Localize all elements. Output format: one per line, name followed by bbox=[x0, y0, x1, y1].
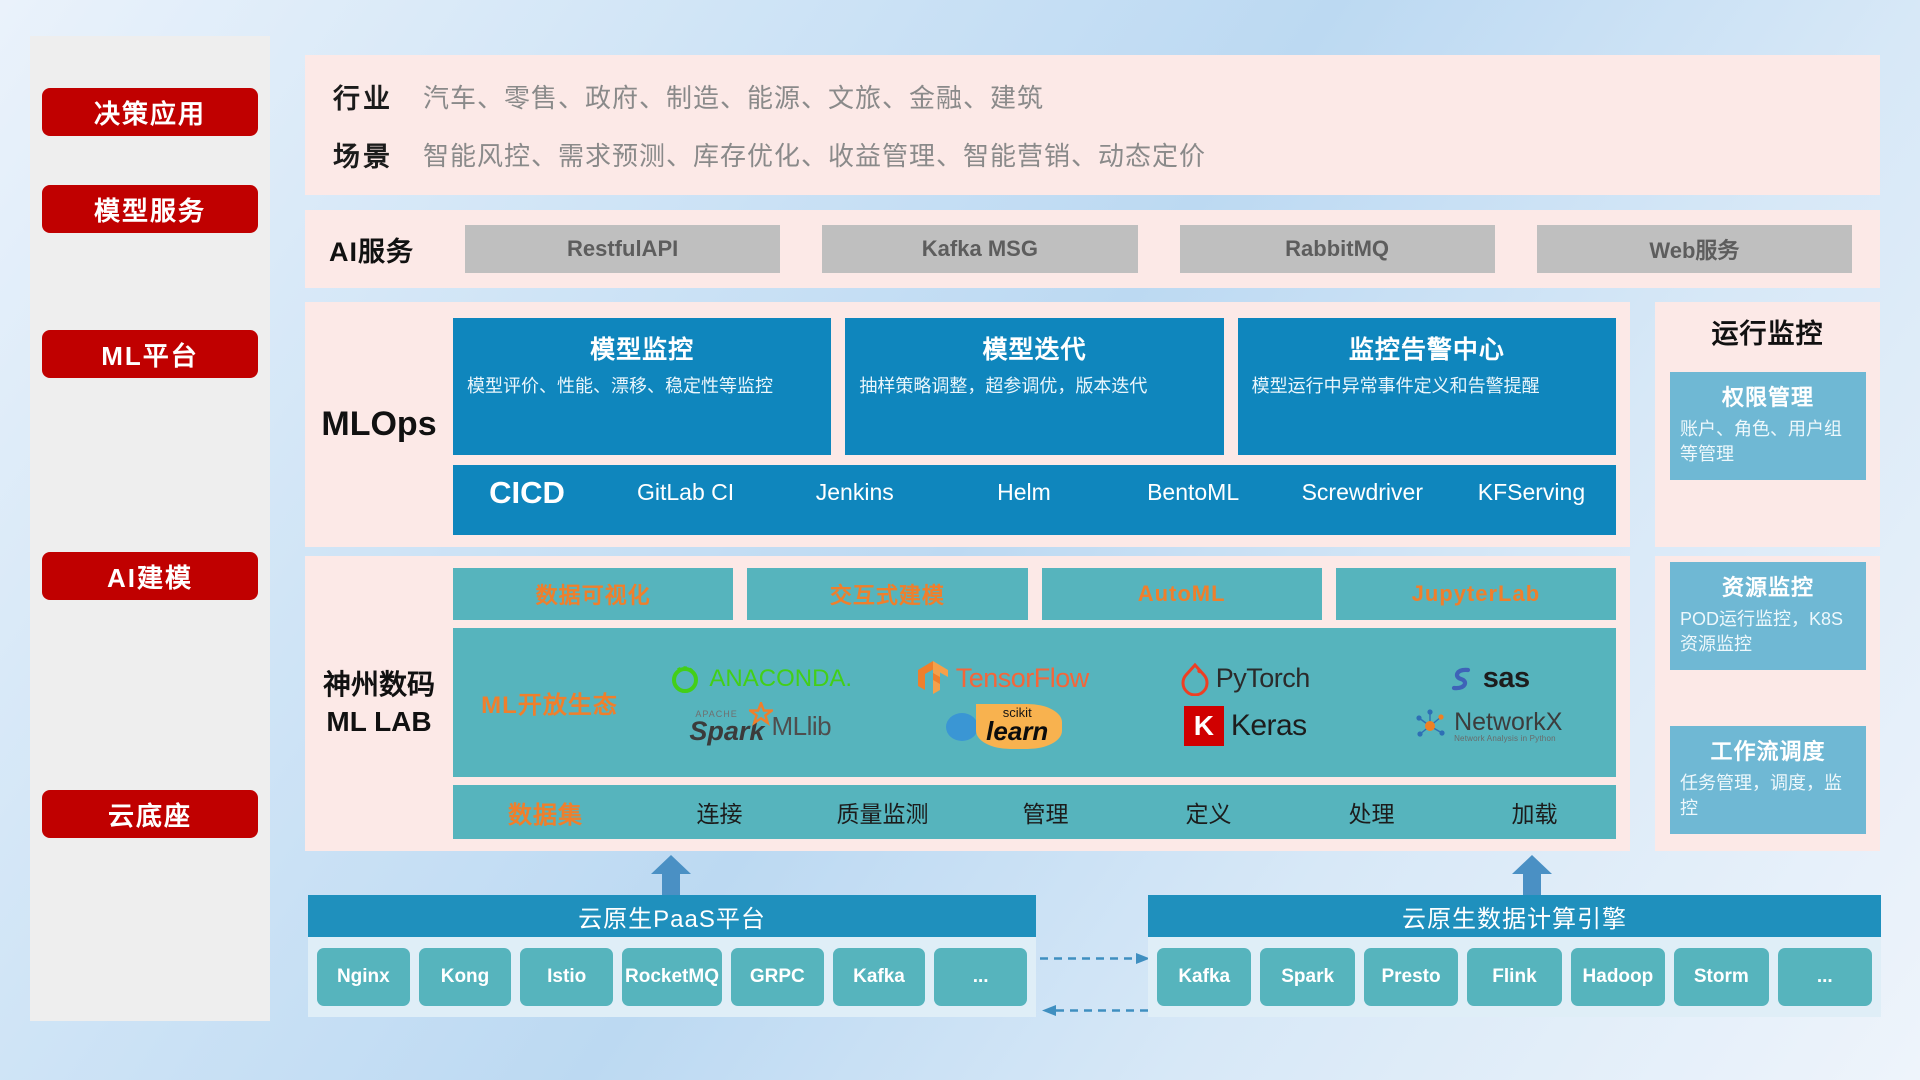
cloud-chip-storm[interactable]: Storm bbox=[1674, 948, 1768, 1006]
dataset-label: 数据集 bbox=[453, 795, 638, 830]
cloud-chip-nginx[interactable]: Nginx bbox=[317, 948, 410, 1006]
rail-chip-model-service[interactable]: 模型服务 bbox=[42, 185, 258, 233]
ml-lab-body: 数据可视化 交互式建模 AutoML JupyterLab ML开放生态 ANA… bbox=[453, 556, 1630, 851]
card-title: 模型监控 bbox=[590, 330, 694, 366]
ml-ecosystem: ML开放生态 ANACONDA. bbox=[453, 628, 1616, 777]
spark-star-icon bbox=[749, 702, 773, 726]
up-arrow-compute-icon bbox=[1509, 853, 1555, 899]
cicd-item-screwdriver[interactable]: Screwdriver bbox=[1278, 475, 1447, 508]
cloud-paas-title: 云原生PaaS平台 bbox=[308, 895, 1036, 937]
cicd-item-kfserving[interactable]: KFServing bbox=[1447, 475, 1616, 508]
cloud-chip-hadoop[interactable]: Hadoop bbox=[1571, 948, 1665, 1006]
cloud-chip-more[interactable]: ... bbox=[934, 948, 1027, 1006]
tool-jupyterlab[interactable]: JupyterLab bbox=[1336, 568, 1616, 620]
anaconda-wordmark: ANACONDA. bbox=[709, 665, 852, 693]
dashed-arrow-left-icon bbox=[1040, 1004, 1152, 1017]
cicd-item-bentoml[interactable]: BentoML bbox=[1109, 475, 1278, 508]
ml-lab-label-line1: 神州数码 bbox=[323, 667, 435, 704]
cicd-item-jenkins[interactable]: Jenkins bbox=[770, 475, 939, 508]
service-box-kafka-msg[interactable]: Kafka MSG bbox=[822, 225, 1137, 273]
mlops-cards: 模型监控 模型评价、性能、漂移、稳定性等监控 模型迭代 抽样策略调整，超参调优，… bbox=[453, 318, 1616, 455]
mlops-card-model-iteration[interactable]: 模型迭代 抽样策略调整，超参调优，版本迭代 bbox=[845, 318, 1223, 455]
cloud-chip-more[interactable]: ... bbox=[1778, 948, 1872, 1006]
cloud-compute-group: 云原生数据计算引擎 Kafka Spark Presto Flink Hadoo… bbox=[1148, 895, 1881, 1030]
cloud-chip-kong[interactable]: Kong bbox=[419, 948, 512, 1006]
dataset-item-quality[interactable]: 质量监测 bbox=[801, 795, 964, 829]
scenario-row: 场景 智能风控、需求预测、库存优化、收益管理、智能营销、动态定价 bbox=[305, 135, 1880, 174]
architecture-diagram: 决策应用 模型服务 ML平台 AI建模 云底座 行业 汽车、零售、政府、制造、能… bbox=[0, 0, 1920, 1080]
cicd-title: CICD bbox=[453, 475, 601, 511]
cicd-item-helm[interactable]: Helm bbox=[939, 475, 1108, 508]
industry-row: 行业 汽车、零售、政府、制造、能源、文旅、金融、建筑 bbox=[305, 77, 1880, 116]
networkx-logo: NetworkX Network Analysis in Python bbox=[1413, 709, 1562, 743]
ai-service-label: AI服务 bbox=[305, 230, 465, 269]
sas-logo: sas bbox=[1446, 662, 1530, 695]
ml-ecosystem-label: ML开放生态 bbox=[457, 685, 642, 720]
card-title: 权限管理 bbox=[1680, 380, 1856, 412]
cloud-paas-group: 云原生PaaS平台 Nginx Kong Istio RocketMQ GRPC… bbox=[308, 895, 1036, 1030]
learn-word: learn bbox=[986, 719, 1048, 744]
keras-logo: K Keras bbox=[1184, 706, 1307, 746]
rail-chip-ml-platform[interactable]: ML平台 bbox=[42, 330, 258, 378]
spark-mllib-logo: APACHE Spark MLlib bbox=[689, 709, 831, 745]
service-box-rabbitmq[interactable]: RabbitMQ bbox=[1180, 225, 1495, 273]
dataset-item-processing[interactable]: 处理 bbox=[1290, 795, 1453, 829]
cloud-chip-rocketmq[interactable]: RocketMQ bbox=[622, 948, 722, 1006]
monitor-card-permission[interactable]: 权限管理 账户、角色、用户组等管理 bbox=[1670, 372, 1866, 480]
card-title: 模型迭代 bbox=[982, 330, 1086, 366]
tensorflow-mark bbox=[917, 660, 949, 698]
anaconda-mark bbox=[668, 662, 702, 696]
cloud-chip-flink[interactable]: Flink bbox=[1467, 948, 1561, 1006]
card-desc: 账户、角色、用户组等管理 bbox=[1680, 417, 1856, 467]
card-desc: 任务管理，调度，监控 bbox=[1680, 771, 1856, 821]
card-title: 工作流调度 bbox=[1680, 734, 1856, 766]
monitoring-title: 运行监控 bbox=[1655, 312, 1880, 351]
anaconda-logo: ANACONDA. bbox=[668, 662, 852, 696]
monitor-card-workflow[interactable]: 工作流调度 任务管理，调度，监控 bbox=[1670, 726, 1866, 834]
service-box-web[interactable]: Web服务 bbox=[1537, 225, 1852, 273]
ml-lab-band: 神州数码 ML LAB 数据可视化 交互式建模 AutoML JupyterLa… bbox=[305, 556, 1630, 851]
cloud-chip-grpc[interactable]: GRPC bbox=[731, 948, 824, 1006]
rail-chip-decision-app[interactable]: 决策应用 bbox=[42, 88, 258, 136]
mlops-band: MLOps 模型监控 模型评价、性能、漂移、稳定性等监控 模型迭代 抽样策略调整… bbox=[305, 302, 1630, 547]
up-arrow-paas-icon bbox=[648, 853, 694, 899]
card-desc: 抽样策略调整，超参调优，版本迭代 bbox=[859, 374, 1209, 399]
cloud-chip-istio[interactable]: Istio bbox=[520, 948, 613, 1006]
tool-data-visualization[interactable]: 数据可视化 bbox=[453, 568, 733, 620]
cicd-bar: CICD GitLab CI Jenkins Helm BentoML Scre… bbox=[453, 465, 1616, 535]
mlops-card-model-monitoring[interactable]: 模型监控 模型评价、性能、漂移、稳定性等监控 bbox=[453, 318, 831, 455]
ai-service-items: RestfulAPI Kafka MSG RabbitMQ Web服务 bbox=[465, 225, 1880, 273]
sas-mark bbox=[1446, 664, 1476, 694]
tensorflow-wordmark: TensorFlow bbox=[956, 663, 1089, 694]
pytorch-logo: PyTorch bbox=[1181, 662, 1310, 696]
dataset-item-management[interactable]: 管理 bbox=[964, 795, 1127, 829]
cicd-item-gitlab-ci[interactable]: GitLab CI bbox=[601, 475, 770, 508]
card-desc: 模型评价、性能、漂移、稳定性等监控 bbox=[467, 374, 817, 399]
cloud-chip-kafka[interactable]: Kafka bbox=[1157, 948, 1251, 1006]
tool-interactive-modeling[interactable]: 交互式建模 bbox=[747, 568, 1027, 620]
cloud-chip-spark[interactable]: Spark bbox=[1260, 948, 1354, 1006]
dataset-item-definition[interactable]: 定义 bbox=[1127, 795, 1290, 829]
ml-ecosystem-logos: ANACONDA. TensorFlow bbox=[642, 656, 1606, 749]
networkx-tagline: Network Analysis in Python bbox=[1454, 735, 1562, 743]
mlops-card-alert-center[interactable]: 监控告警中心 模型运行中异常事件定义和告警提醒 bbox=[1238, 318, 1616, 455]
networkx-mark bbox=[1413, 709, 1447, 743]
cloud-chip-kafka[interactable]: Kafka bbox=[833, 948, 926, 1006]
ml-lab-label: 神州数码 ML LAB bbox=[305, 556, 453, 851]
keras-mark: K bbox=[1184, 706, 1224, 746]
pytorch-mark bbox=[1181, 662, 1209, 696]
industry-label: 行业 bbox=[305, 77, 423, 116]
mlops-label: MLOps bbox=[305, 302, 453, 547]
keras-wordmark: Keras bbox=[1231, 709, 1307, 743]
dataset-item-connect[interactable]: 连接 bbox=[638, 795, 801, 829]
pytorch-wordmark: PyTorch bbox=[1216, 663, 1310, 694]
ml-lab-tools: 数据可视化 交互式建模 AutoML JupyterLab bbox=[453, 568, 1616, 620]
tensorflow-logo: TensorFlow bbox=[917, 660, 1089, 698]
cloud-chip-presto[interactable]: Presto bbox=[1364, 948, 1458, 1006]
rail-chip-cloud-base[interactable]: 云底座 bbox=[42, 790, 258, 838]
sas-wordmark: sas bbox=[1483, 662, 1530, 695]
ai-service-band: AI服务 RestfulAPI Kafka MSG RabbitMQ Web服务 bbox=[305, 210, 1880, 288]
dataset-row: 数据集 连接 质量监测 管理 定义 处理 加载 bbox=[453, 785, 1616, 839]
dataset-item-loading[interactable]: 加载 bbox=[1453, 795, 1616, 829]
monitor-card-resource[interactable]: 资源监控 POD运行监控，K8S资源监控 bbox=[1670, 562, 1866, 670]
card-desc: POD运行监控，K8S资源监控 bbox=[1680, 607, 1856, 657]
layer-rail: 决策应用 模型服务 ML平台 AI建模 云底座 bbox=[30, 36, 270, 1021]
service-box-restfulapi[interactable]: RestfulAPI bbox=[465, 225, 780, 273]
dashed-arrow-right-icon bbox=[1040, 952, 1152, 965]
ml-lab-label-line2: ML LAB bbox=[326, 704, 431, 741]
rail-chip-ai-modeling[interactable]: AI建模 bbox=[42, 552, 258, 600]
industry-values: 汽车、零售、政府、制造、能源、文旅、金融、建筑 bbox=[423, 78, 1044, 115]
card-desc: 模型运行中异常事件定义和告警提醒 bbox=[1252, 374, 1602, 399]
networkx-wordmark: NetworkX bbox=[1454, 710, 1562, 735]
scenario-values: 智能风控、需求预测、库存优化、收益管理、智能营销、动态定价 bbox=[423, 136, 1206, 173]
mllib-wordmark: MLlib bbox=[771, 711, 831, 742]
cloud-compute-chips: Kafka Spark Presto Flink Hadoop Storm ..… bbox=[1148, 937, 1881, 1017]
card-title: 资源监控 bbox=[1680, 570, 1856, 602]
mlops-body: 模型监控 模型评价、性能、漂移、稳定性等监控 模型迭代 抽样策略调整，超参调优，… bbox=[453, 302, 1630, 547]
tool-automl[interactable]: AutoML bbox=[1042, 568, 1322, 620]
cloud-compute-title: 云原生数据计算引擎 bbox=[1148, 895, 1881, 937]
card-title: 监控告警中心 bbox=[1349, 330, 1505, 366]
scenario-label: 场景 bbox=[305, 135, 423, 174]
application-layer-band: 行业 汽车、零售、政府、制造、能源、文旅、金融、建筑 场景 智能风控、需求预测、… bbox=[305, 55, 1880, 195]
cloud-paas-chips: Nginx Kong Istio RocketMQ GRPC Kafka ... bbox=[308, 937, 1036, 1017]
scikit-learn-logo: scikit learn bbox=[943, 704, 1062, 750]
